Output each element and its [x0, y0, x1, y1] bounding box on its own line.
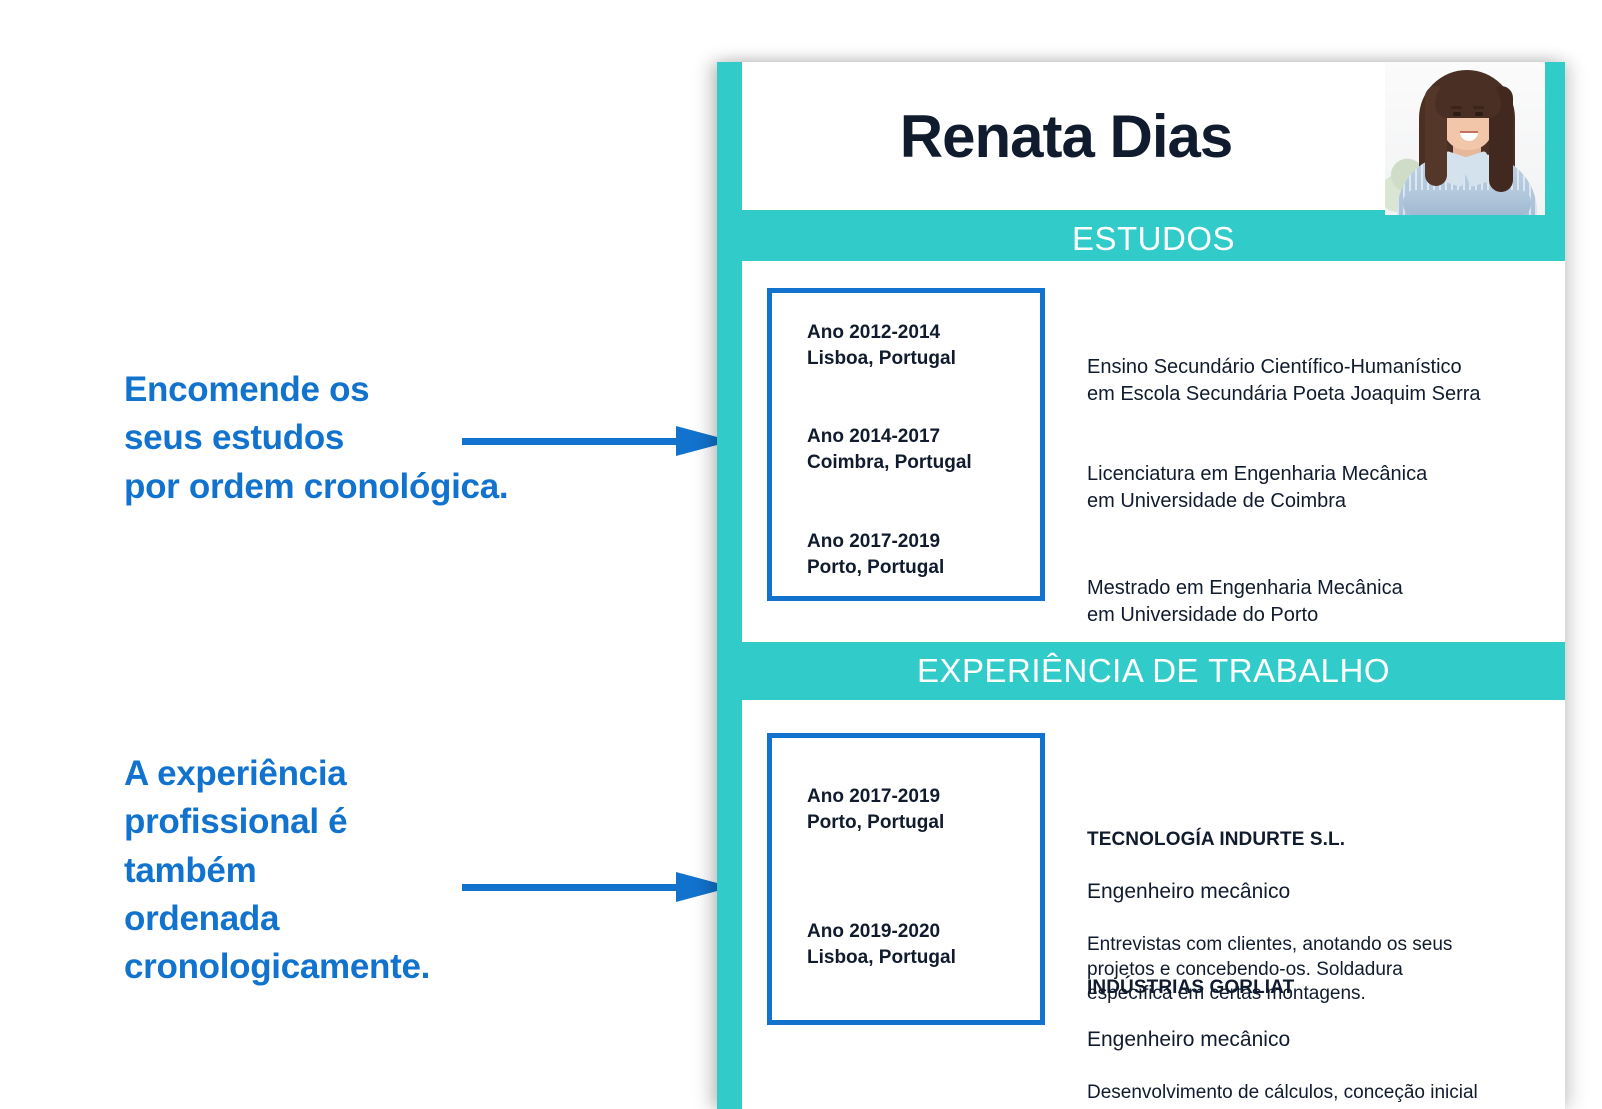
infographic-canvas: Encomende os seus estudos por ordem cron…: [0, 0, 1602, 1109]
avatar: [1385, 62, 1545, 215]
experience-role-1: Engenheiro mecânico: [1087, 878, 1452, 906]
section-content-estudos: Ano 2012-2014 Lisboa, Portugal Ano 2014-…: [742, 261, 1565, 642]
experience-date-1: Ano 2017-2019 Porto, Portugal: [807, 784, 944, 835]
studies-description-2: Licenciatura em Engenharia Mecânica em U…: [1087, 461, 1427, 514]
eye-right: [1475, 112, 1483, 116]
experience-date-2: Ano 2019-2020 Lisboa, Portugal: [807, 919, 956, 970]
crossed-arms: [1403, 190, 1531, 215]
arrow-shaft: [462, 884, 680, 891]
section-content-experiencia: Ano 2017-2019 Porto, Portugal Ano 2019-2…: [742, 700, 1565, 1109]
experience-org-2: INDÚSTRIAS GORLIAT: [1087, 975, 1488, 1000]
experience-role-2: Engenheiro mecânico: [1087, 1026, 1488, 1054]
eyebrow-left: [1451, 106, 1462, 109]
resume-panel: Renata Dias: [717, 62, 1565, 1109]
studies-description-1: Ensino Secundário Científico-Humanístico…: [1087, 354, 1481, 407]
eye-left: [1453, 112, 1461, 116]
arrow-studies: [462, 426, 734, 457]
studies-date-2: Ano 2014-2017 Coimbra, Portugal: [807, 424, 972, 475]
annotation-experience-text: A experiência profissional é também orde…: [124, 750, 644, 991]
studies-date-3: Ano 2017-2019 Porto, Portugal: [807, 529, 944, 580]
section-band-estudos: ESTUDOS: [742, 216, 1565, 261]
eyebrow-right: [1473, 106, 1484, 109]
arrow-experience: [462, 872, 734, 903]
portrait-illustration: [1385, 62, 1545, 215]
resume-header-name-box: Renata Dias: [742, 62, 1390, 210]
studies-date-1: Ano 2012-2014 Lisboa, Portugal: [807, 320, 956, 371]
experience-detail-2: Desenvolvimento de cálculos, conceção in…: [1087, 1081, 1488, 1109]
experience-date-box: Ano 2017-2019 Porto, Portugal Ano 2019-2…: [767, 733, 1045, 1025]
arrow-shaft: [462, 438, 680, 445]
experience-entry-2: INDÚSTRIAS GORLIAT Engenheiro mecânico D…: [1087, 948, 1488, 1109]
section-band-experiencia: EXPERIÊNCIA DE TRABALHO: [742, 642, 1565, 700]
studies-description-3: Mestrado em Engenharia Mecânica em Unive…: [1087, 575, 1403, 628]
page-title: Renata Dias: [900, 102, 1232, 171]
studies-date-box: Ano 2012-2014 Lisboa, Portugal Ano 2014-…: [767, 288, 1045, 601]
experience-org-1: TECNOLOGÍA INDURTE S.L.: [1087, 827, 1452, 852]
